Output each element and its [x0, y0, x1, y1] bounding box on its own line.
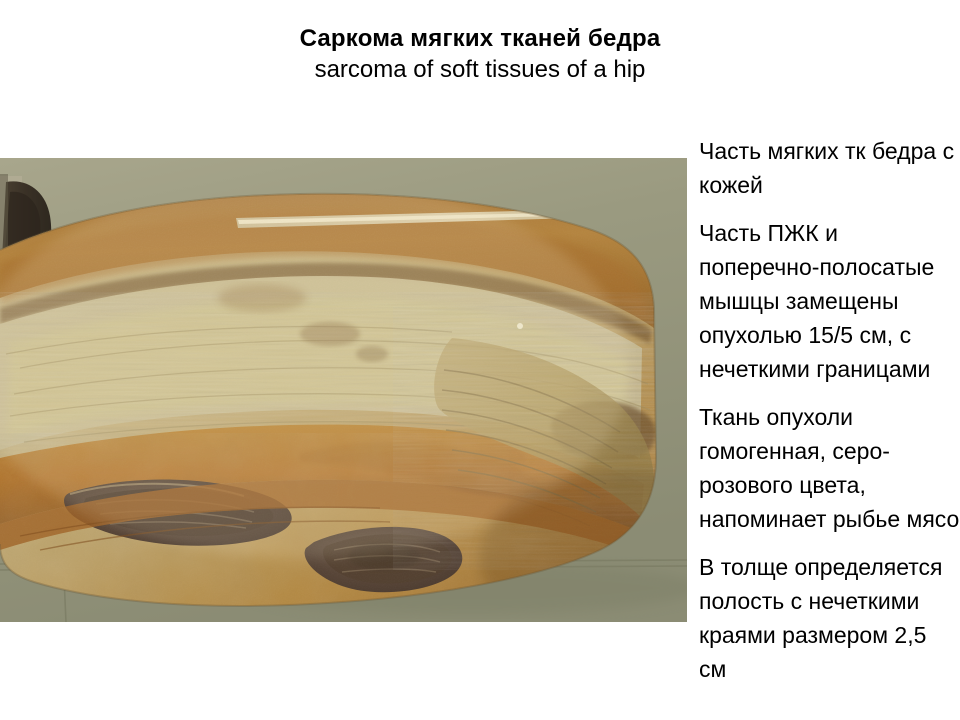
caption-paragraph-3: Ткань опухоли гомогенная, серо-розового … — [699, 400, 960, 536]
caption-paragraph-2: Часть ПЖК и поперечно-полосатые мышцы за… — [699, 216, 960, 386]
slide-title-block: Саркома мягких тканей бедра sarcoma of s… — [0, 24, 960, 86]
caption-paragraph-4: В толще определяется полость с нечеткими… — [699, 550, 960, 686]
caption-paragraph-1: Часть мягких тк бедра с кожей — [699, 134, 960, 202]
specimen-photograph — [0, 158, 687, 622]
specular-highlight — [517, 323, 523, 329]
page-subtitle-english: sarcoma of soft tissues of a hip — [0, 54, 960, 86]
caption-column: Часть мягких тк бедра с кожей Часть ПЖК … — [699, 134, 960, 686]
specimen-photograph-graphic — [0, 158, 687, 622]
page-title-russian: Саркома мягких тканей бедра — [0, 24, 960, 54]
